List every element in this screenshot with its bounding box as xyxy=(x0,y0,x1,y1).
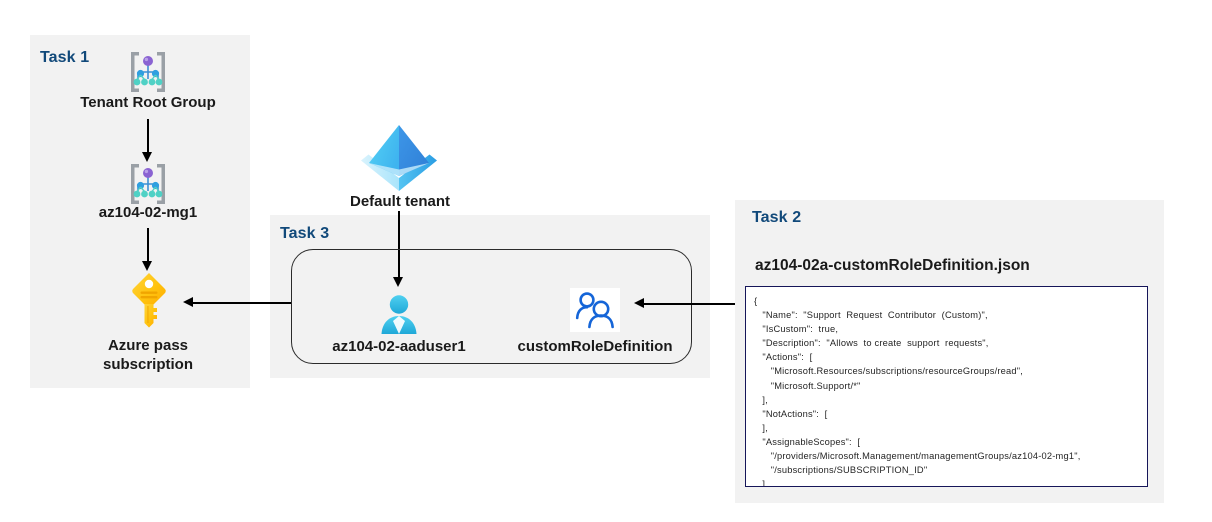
arrow-line-task2-to-role xyxy=(644,303,735,305)
role-definition-icon xyxy=(570,288,620,332)
arrow-head-task3-to-sub xyxy=(183,297,193,307)
az104-02-mg1-label: az104-02-mg1 xyxy=(50,203,246,222)
tenant-root-group-label: Tenant Root Group xyxy=(50,93,246,112)
azure-ad-tenant-icon xyxy=(358,121,440,193)
arrow-head-mg1-to-sub xyxy=(142,261,152,271)
task1-label: Task 1 xyxy=(40,49,89,67)
user-icon xyxy=(377,293,421,337)
json-code-text: { "Name": "Support Request Contributor (… xyxy=(754,294,1147,487)
arrow-line-mg1-to-sub xyxy=(147,228,149,263)
arrow-line-task3-to-sub xyxy=(193,302,291,304)
management-group-icon xyxy=(124,48,172,96)
arrow-head-task2-to-role xyxy=(634,298,644,308)
task2-label: Task 2 xyxy=(752,209,801,227)
azure-pass-subscription-label: Azure pass subscription xyxy=(60,336,236,374)
azure-pass-subscription-line1: Azure pass xyxy=(108,337,188,354)
key-icon xyxy=(126,271,172,329)
json-filename-label: az104-02a-customRoleDefinition.json xyxy=(755,257,1030,275)
customroledefinition-label: customRoleDefinition xyxy=(500,337,690,356)
management-group-icon xyxy=(124,160,172,208)
azure-pass-subscription-line2: subscription xyxy=(103,356,193,373)
az104-02-aaduser1-label: az104-02-aaduser1 xyxy=(304,337,494,356)
task3-label: Task 3 xyxy=(280,225,329,243)
json-code-box: { "Name": "Support Request Contributor (… xyxy=(745,286,1148,487)
default-tenant-label: Default tenant xyxy=(305,192,495,211)
arrow-line-trg-to-mg1 xyxy=(147,119,149,154)
diagram-canvas: Task 1 Task 3 Task 2 Tenant Root Group xyxy=(0,0,1212,522)
